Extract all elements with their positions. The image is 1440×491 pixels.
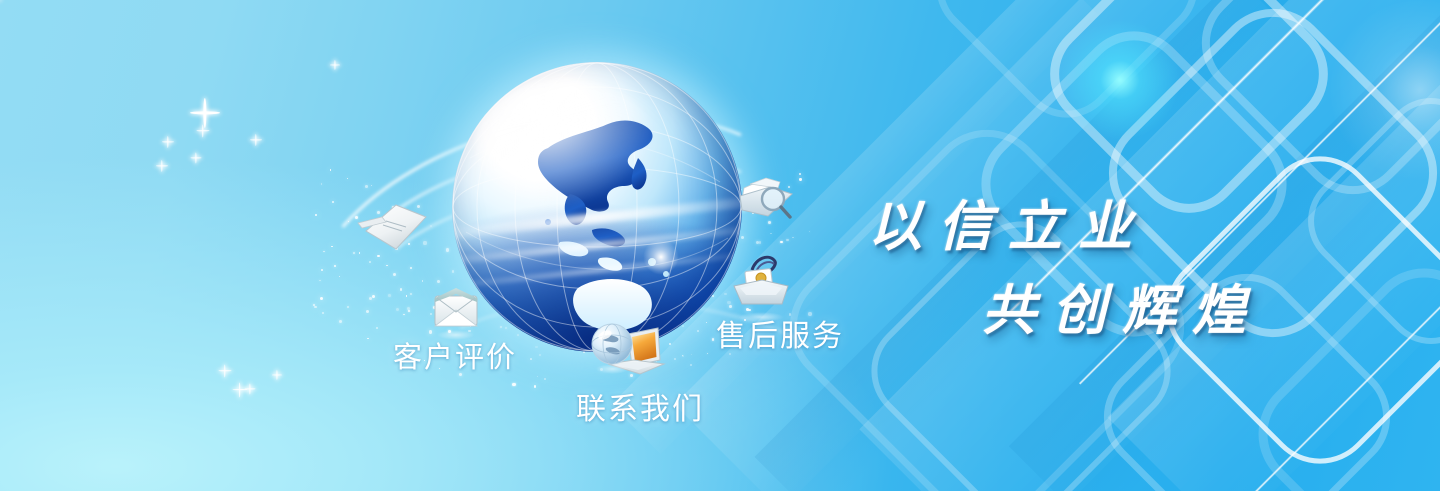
envelope-icon[interactable] (430, 286, 482, 332)
banner-root: 客户评价 (0, 0, 1440, 491)
bg-streak (1238, 210, 1440, 491)
sparkle-icon (190, 98, 220, 128)
sparkle-icon (272, 370, 282, 380)
bg-ring (1179, 0, 1440, 217)
bg-glow (1330, 0, 1440, 180)
sparkle-icon (244, 383, 255, 394)
bg-glow (1055, 20, 1185, 140)
bg-slab (1107, 0, 1440, 491)
bg-ring (1288, 78, 1440, 364)
sparkle-icon (330, 60, 340, 70)
id-badge-icon[interactable] (730, 252, 792, 314)
sparkle-icon (190, 152, 201, 163)
folder-search-icon (736, 170, 798, 228)
bg-ring (916, 0, 1219, 138)
node-label-customer-review[interactable]: 客户评价 (393, 334, 517, 376)
world-globe-graphic (452, 62, 742, 352)
slogan-line-1: 以信立业 (868, 182, 1148, 261)
node-label-after-sales[interactable]: 售后服务 (716, 311, 844, 355)
sparkle-icon (232, 382, 247, 397)
slogan-line-2: 共创辉煌 (982, 266, 1262, 345)
mini-globe-icon (590, 322, 634, 366)
sparkle-icon (196, 124, 209, 137)
paper-document-icon (352, 195, 430, 257)
sparkle-icon (250, 134, 262, 146)
bg-ring (1234, 244, 1440, 491)
sparkle-icon (156, 160, 168, 172)
sparkle-icon (218, 364, 231, 377)
node-label-contact-us[interactable]: 联系我们 (576, 384, 704, 428)
sparkle-icon (162, 136, 174, 148)
